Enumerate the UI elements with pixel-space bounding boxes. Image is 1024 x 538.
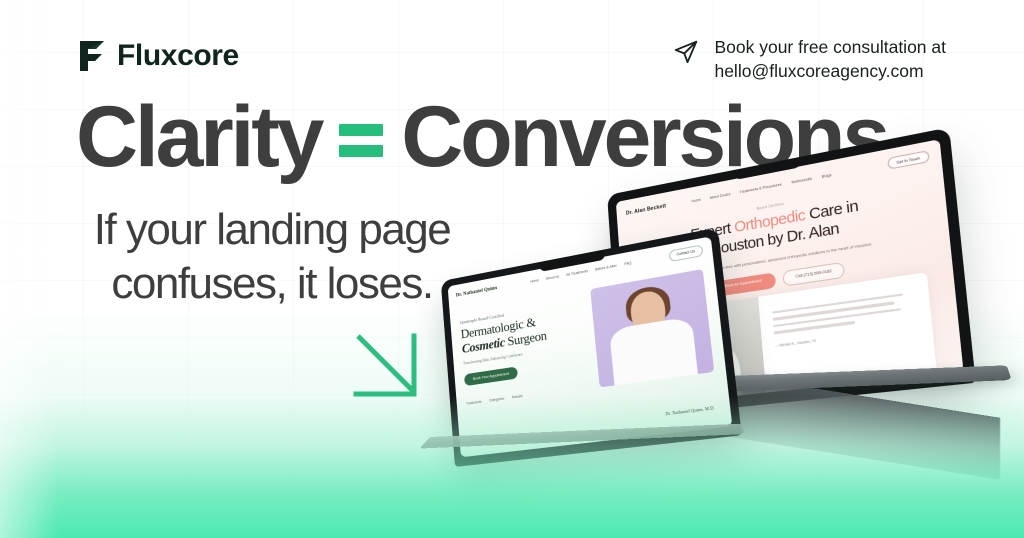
subtitle-line-1: If your landing page [72,203,472,257]
nav-item-blogs[interactable]: Blogs [822,173,832,179]
stat-treatments: Treatments [466,400,482,406]
photo-caption: Dr. Nathaniel Quinn, M.D [665,405,714,416]
poster-canvas: Fluxcore Book your free consultation at … [0,0,1024,538]
brand-name: Fluxcore [117,41,239,71]
stat-results: Results [512,394,523,399]
site-brand: Dr. Alan Beckett [626,203,666,216]
diagonal-down-right-arrow-icon [352,332,430,402]
nav-item-home[interactable]: Home [691,197,701,203]
nav-item-about-doctor[interactable]: About Doctor [709,192,730,200]
nav-item-about-us[interactable]: About us [546,275,559,281]
nav-item-testimonials[interactable]: Testimonials [791,176,812,184]
contact-email: hello@fluxcoreagency.com [714,60,946,84]
doctor-portrait-photo [590,269,714,388]
equals-sign-icon [339,118,383,157]
hero-copy: Quadruple Board-Certified Dermatologic &… [459,288,591,406]
contact-text: Book your free consultation at hello@flu… [714,36,946,83]
nav-item-treatments[interactable]: Treatments & Procedures [739,182,781,194]
fluxcore-mark-icon [78,40,106,72]
stat-categories: Categories [489,397,504,403]
subtitle-line-2: confuses, it loses. [72,257,472,311]
site-cta-button[interactable]: Get In Touch [887,150,930,170]
nav-item-before-after[interactable]: Before & After [595,264,617,272]
contact-line-1: Book your free consultation at [714,36,946,60]
site-nav-links: Home About Doctor Treatments & Procedure… [691,168,858,204]
contact-callout[interactable]: Book your free consultation at hello@flu… [673,36,946,83]
hero-secondary-button[interactable]: Call (713) 555-0182 [782,262,845,287]
hero-section: Quadruple Board-Certified Dermatologic &… [449,254,726,407]
hero-primary-button[interactable]: Book Your Appointment [464,367,518,387]
nav-item-faq[interactable]: FAQ [624,261,632,266]
nav-item-home[interactable]: Home [530,279,539,285]
hero-stats: Treatments Categories Results [466,385,591,406]
headline-part-1: Clarity [76,94,321,180]
hero-headline: Dermatologic & Cosmetic Surgeon [460,307,586,357]
page-subtitle: If your landing page confuses, it loses. [72,203,472,310]
paper-plane-icon [673,39,699,65]
nav-item-all-treatments[interactable]: All Treatments [566,269,588,277]
brand-logo[interactable]: Fluxcore [78,40,239,72]
